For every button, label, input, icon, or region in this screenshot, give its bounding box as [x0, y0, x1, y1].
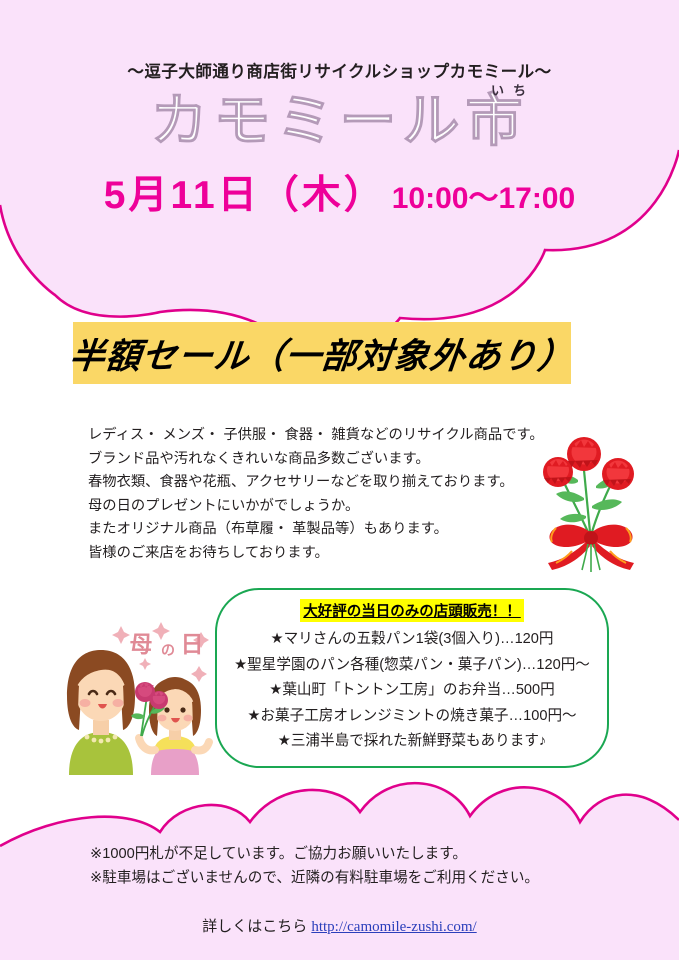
mother-figure — [67, 650, 135, 775]
flyer-poster: 〜逗子大師通り商店街リサイクルショップカモミール〜 カモミール市 いち 5月11… — [0, 0, 679, 960]
mothers-day-label: 母 — [130, 631, 153, 657]
svg-text:の: の — [161, 642, 175, 658]
body-line: 皆様のご来店をお待ちしております。 — [88, 542, 538, 566]
website-line: 詳しくはこちらhttp://camomile-zushi.com/ — [0, 915, 679, 936]
svg-text:日: 日 — [181, 631, 204, 657]
market-title-wrap: カモミール市 いち — [0, 88, 679, 154]
promo-box: 大好評の当日のみの店頭販売！！ ★マリさんの五穀パン1袋(3個入り)…120円 … — [215, 588, 609, 768]
promo-item: ★お菓子工房オレンジミントの焼き菓子…100円〜 — [217, 704, 607, 730]
carnation-bouquet-icon — [528, 420, 663, 580]
promo-item: ★聖星学園のパン各種(惣菜パン・菓子パン)…120円〜 — [217, 653, 607, 679]
body-line: またオリジナル商品（布草履・ 革製品等）もあります。 — [88, 518, 538, 542]
promo-heading: 大好評の当日のみの店頭販売！！ — [300, 599, 524, 622]
event-datetime: 5月11日（木）10:00〜17:00 — [0, 164, 679, 220]
body-line: レディス・ メンズ・ 子供服・ 食器・ 雑貨などのリサイクル商品です。 — [88, 424, 538, 448]
footer-note: ※駐車場はございませんので、近隣の有料駐車場をご利用ください。 — [90, 866, 539, 890]
promo-item: ★三浦半島で採れた新鮮野菜もあります♪ — [217, 729, 607, 755]
event-time: 10:00〜17:00 — [392, 182, 575, 215]
promo-item-list: ★マリさんの五穀パン1袋(3個入り)…120円 ★聖星学園のパン各種(惣菜パン・… — [217, 627, 607, 755]
website-link[interactable]: http://camomile-zushi.com/ — [311, 919, 476, 935]
page-title: カモミール市 — [0, 88, 679, 154]
poster-header: 〜逗子大師通り商店街リサイクルショップカモミール〜 カモミール市 いち 5月11… — [0, 0, 679, 220]
body-line: ブランド品や汚れなくきれいな商品多数ございます。 — [88, 448, 538, 472]
furigana-ruby: いち — [491, 80, 535, 99]
website-label: 詳しくはこちら — [202, 919, 307, 935]
footer-notes: ※1000円札が不足しています。ご協力お願いいたします。 ※駐車場はございません… — [90, 842, 539, 890]
footer-note: ※1000円札が不足しています。ご協力お願いいたします。 — [90, 842, 539, 866]
promo-item: ★葉山町「トントン工房」のお弁当…500円 — [217, 678, 607, 704]
body-line: 春物衣類、食器や花瓶、アクセサリーなどを取り揃えております。 — [88, 471, 538, 495]
shop-subtitle: 〜逗子大師通り商店街リサイクルショップカモミール〜 — [0, 58, 679, 82]
promo-item: ★マリさんの五穀パン1袋(3個入り)…120円 — [217, 627, 607, 653]
sale-banner-text: 半額セール（一部対象外あり） — [67, 328, 576, 379]
body-copy: レディス・ メンズ・ 子供服・ 食器・ 雑貨などのリサイクル商品です。 ブランド… — [88, 424, 538, 565]
sale-banner: 半額セール（一部対象外あり） — [73, 322, 571, 384]
mother-and-child-illustration: 母 の 日 — [35, 600, 225, 775]
body-line: 母の日のプレゼントにいかがでしょうか。 — [88, 495, 538, 519]
event-date: 5月11日（木） — [104, 174, 386, 217]
